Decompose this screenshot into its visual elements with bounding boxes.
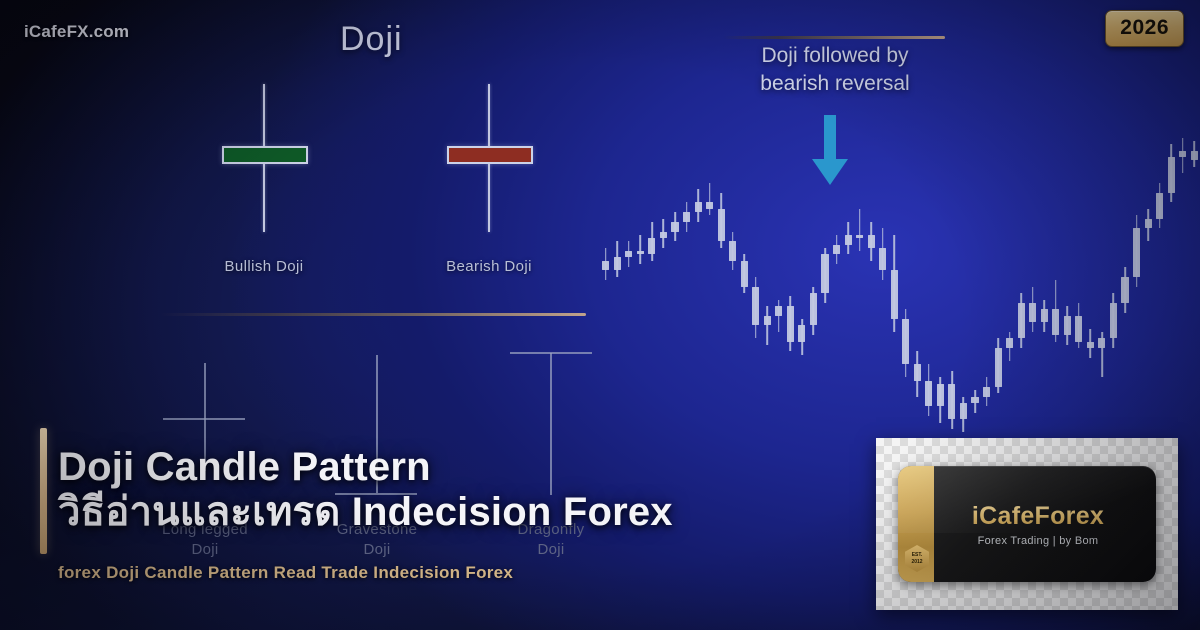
candlestick [1052,120,1059,450]
candlestick [925,120,932,450]
candlestick [660,120,667,450]
candlestick [1029,120,1036,450]
candlestick-body [752,287,759,326]
candlestick-body [614,257,621,270]
title-accent-bar [40,428,47,554]
candlestick [671,120,678,450]
candlestick [1006,120,1013,450]
candlestick [983,120,990,450]
candlestick [706,120,713,450]
candlestick [614,120,621,450]
candlestick-body [648,238,655,254]
candlestick [718,120,725,450]
candlestick [787,120,794,450]
candlestick [648,120,655,450]
candlestick-body [695,202,702,212]
arrow-down-icon [810,115,850,187]
candlestick-chart [600,120,1200,450]
candlestick-body [602,261,609,271]
candlestick [971,120,978,450]
candlestick [1133,120,1140,450]
candlestick [798,120,805,450]
candlestick-body [775,306,782,316]
candlestick [1098,120,1105,450]
candlestick [741,120,748,450]
candlestick-wick [766,306,768,345]
bullish-doji-figure: Bullish Doji [200,80,328,285]
annotation-line-1: Doji followed by [700,42,970,70]
candlestick-body [1191,151,1198,161]
candle-body-bearish [447,146,533,164]
site-brand-label: iCafeFX.com [24,22,129,42]
candlestick [1145,120,1152,450]
candlestick-body [683,212,690,222]
candlestick [1179,120,1186,450]
candlestick-body [1087,342,1094,348]
candlestick-body [971,397,978,403]
bullish-doji-label: Bullish Doji [200,258,328,275]
candlestick-body [983,387,990,397]
annotation-line-2: bearish reversal [700,70,970,98]
candlestick-wick [859,209,861,251]
logo-tagline: Forex Trading | by Bom [978,535,1099,547]
candlestick [995,120,1002,450]
candlestick-body [1110,303,1117,339]
candlestick [729,120,736,450]
candlestick-body [1006,338,1013,348]
est-year: 2012 [911,559,922,565]
candle-body-bullish [222,146,308,164]
candlestick-body [1098,338,1105,348]
candlestick-body [995,348,1002,387]
candlestick [1110,120,1117,450]
bearish-doji-label: Bearish Doji [425,258,553,275]
candlestick-body [660,232,667,238]
candlestick-body [914,364,921,380]
candlestick-body [718,209,725,241]
candlestick-body [856,235,863,238]
year-badge: 2026 [1105,10,1184,47]
candlestick-body [1052,309,1059,335]
long-legged-doji-bar [163,418,245,420]
candlestick [960,120,967,450]
candlestick [1156,120,1163,450]
candlestick [602,120,609,450]
candlestick-body [1075,316,1082,342]
candlestick-body [879,248,886,271]
candlestick-body [868,235,875,248]
poster-canvas: Doji Bullish Doji Bearish Doji Long legg… [0,0,1200,630]
logo-brand-name: iCafeForex [972,502,1104,531]
candlestick-body [625,251,632,257]
candlestick-body [845,235,852,245]
candlestick-body [637,251,644,254]
candlestick [1191,120,1198,450]
candlestick [1018,120,1025,450]
section-divider-left [160,313,586,316]
candlestick [695,120,702,450]
candlestick-body [902,319,909,364]
candlestick-body [810,293,817,325]
dragonfly-doji-bar [510,352,592,354]
candlestick [683,120,690,450]
candlestick [1121,120,1128,450]
candlestick-body [729,241,736,260]
variant-label-line2: Doji [476,540,626,560]
candlestick-body [706,202,713,208]
candlestick [948,120,955,450]
candlestick-body [787,306,794,342]
candlestick-body [1029,303,1036,322]
variant-label-line2: Doji [302,540,452,560]
candlestick [1087,120,1094,450]
candlestick [1168,120,1175,450]
variant-label-line2: Doji [130,540,280,560]
candlestick [1064,120,1071,450]
candlestick [764,120,771,450]
candlestick [891,120,898,450]
candlestick [1041,120,1048,450]
candlestick-body [798,325,805,341]
candlestick-body [960,403,967,419]
candlestick-body [1145,219,1152,229]
candlestick [637,120,644,450]
logo-plate: iCafeForex Forex Trading | by Bom EST. 2… [898,466,1156,582]
candlestick [775,120,782,450]
candlestick-body [741,261,748,287]
candlestick-body [1133,228,1140,277]
logo-card: iCafeForex Forex Trading | by Bom EST. 2… [876,438,1178,610]
candlestick [914,120,921,450]
candlestick-body [1179,151,1186,157]
candlestick-body [1156,193,1163,219]
candlestick-body [1121,277,1128,303]
candlestick-body [1168,157,1175,193]
candlestick-body [671,222,678,232]
candlestick [625,120,632,450]
candlestick-wick [778,300,780,332]
page-subtitle: forex Doji Candle Pattern Read Trade Ind… [58,563,513,583]
candlestick [856,120,863,450]
doji-section-heading: Doji [340,20,403,59]
candlestick-wick [640,235,642,264]
chart-annotation: Doji followed by bearish reversal [700,42,970,97]
bearish-doji-figure: Bearish Doji [425,80,553,285]
candlestick-body [1064,316,1071,335]
candlestick [752,120,759,450]
candlestick-body [1041,309,1048,322]
candlestick [879,120,886,450]
candlestick [937,120,944,450]
candlestick-body [891,270,898,319]
section-divider-right [723,36,945,39]
candlestick [868,120,875,450]
candlestick-body [948,384,955,420]
candlestick-wick [709,183,711,215]
candlestick-body [833,245,840,255]
candlestick-body [821,254,828,293]
candlestick-body [764,316,771,326]
candlestick-body [937,384,944,407]
candlestick-body [1018,303,1025,339]
candlestick [1075,120,1082,450]
candlestick [902,120,909,450]
candlestick-body [925,381,932,407]
